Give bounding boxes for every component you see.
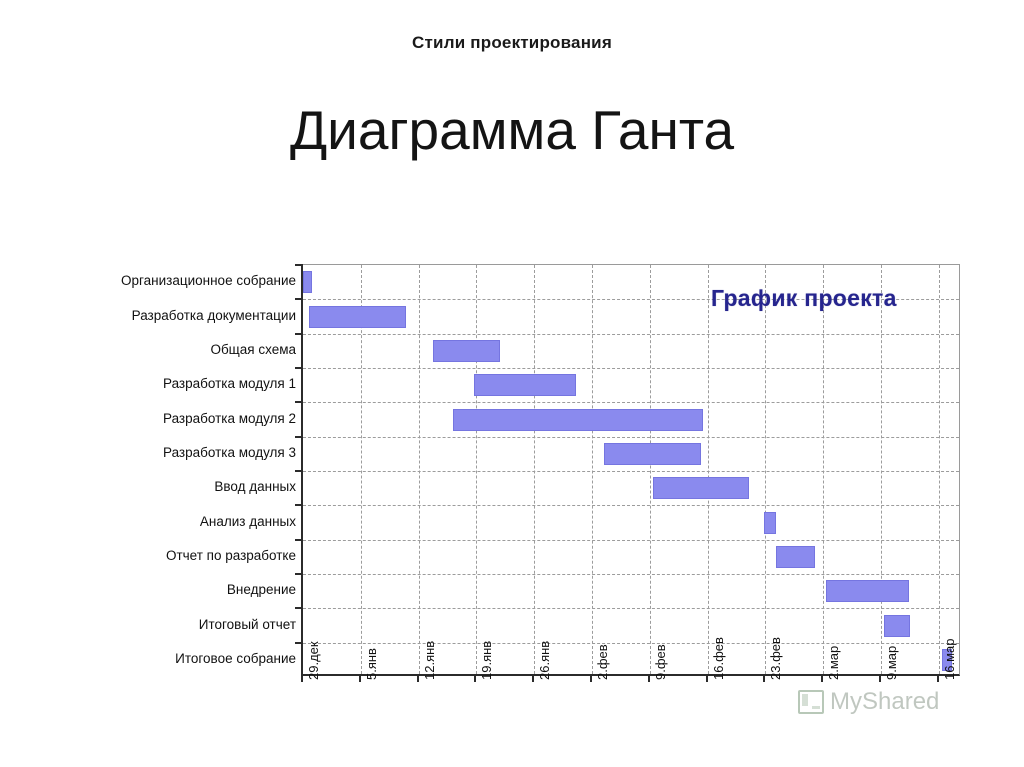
chart-annotation: График проекта: [711, 285, 897, 312]
x-axis-tick: [417, 676, 419, 682]
y-axis-tick: [295, 436, 303, 438]
gantt-bar: [884, 615, 910, 637]
y-gridline: [303, 437, 959, 438]
x-axis-tick: [879, 676, 881, 682]
y-axis-tick: [295, 264, 303, 266]
gantt-bar: [604, 443, 701, 465]
y-axis-tick: [295, 642, 303, 644]
x-axis-tick: [706, 676, 708, 682]
y-axis-tick: [295, 539, 303, 541]
x-axis-label: 12.янв: [422, 641, 437, 680]
y-gridline: [303, 608, 959, 609]
x-axis-label: 2.фев: [595, 644, 610, 680]
x-axis-label: 9.мар: [884, 646, 899, 680]
x-axis-label: 23.фев: [768, 637, 783, 680]
y-gridline: [303, 540, 959, 541]
x-gridline: [534, 265, 535, 674]
presentation-icon: [798, 690, 824, 714]
y-axis-tick: [295, 401, 303, 403]
x-axis-label: 5.янв: [364, 648, 379, 680]
y-axis-tick: [295, 607, 303, 609]
x-axis-tick: [474, 676, 476, 682]
y-gridline: [303, 471, 959, 472]
x-axis-label: 2.мар: [826, 646, 841, 680]
task-label: Разработка документации: [66, 309, 296, 323]
x-axis-tick: [532, 676, 534, 682]
gantt-bar: [303, 271, 312, 293]
y-axis-tick: [295, 573, 303, 575]
task-label: Внедрение: [66, 583, 296, 597]
y-gridline: [303, 334, 959, 335]
task-label: Разработка модуля 1: [66, 377, 296, 391]
x-axis-label: 26.янв: [537, 641, 552, 680]
watermark: MyShared: [798, 688, 939, 716]
y-gridline: [303, 574, 959, 575]
x-axis-tick: [763, 676, 765, 682]
x-gridline: [881, 265, 882, 674]
task-label: Разработка модуля 2: [66, 412, 296, 426]
x-axis-tick: [821, 676, 823, 682]
x-axis-label: 16.фев: [711, 637, 726, 680]
x-gridline: [708, 265, 709, 674]
gantt-bar: [433, 340, 499, 362]
y-axis-tick: [295, 504, 303, 506]
x-axis-tick: [359, 676, 361, 682]
task-label: Ввод данных: [66, 480, 296, 494]
x-axis-label: 19.янв: [479, 641, 494, 680]
y-axis-tick: [295, 333, 303, 335]
x-gridline: [476, 265, 477, 674]
y-axis-tick: [295, 367, 303, 369]
task-label: Общая схема: [66, 343, 296, 357]
y-gridline: [303, 505, 959, 506]
x-gridline: [765, 265, 766, 674]
task-label: Организационное собрание: [66, 274, 296, 288]
gantt-bar: [474, 374, 577, 396]
gantt-plot-area: [301, 264, 960, 676]
x-gridline: [592, 265, 593, 674]
task-label: Итоговый отчет: [66, 618, 296, 632]
y-gridline: [303, 643, 959, 644]
y-axis-tick: [295, 298, 303, 300]
x-axis-tick: [301, 676, 303, 682]
gantt-bar: [453, 409, 703, 431]
x-axis-label: 9.фев: [653, 644, 668, 680]
task-label-column: Организационное собраниеРазработка докум…: [64, 264, 296, 676]
gantt-bar: [653, 477, 750, 499]
x-axis-tick: [590, 676, 592, 682]
gantt-chart: Организационное собраниеРазработка докум…: [0, 0, 1024, 767]
x-gridline: [419, 265, 420, 674]
watermark-text: MyShared: [830, 688, 939, 716]
x-axis-label: 16.мар: [942, 639, 957, 680]
task-label: Итоговое собрание: [66, 652, 296, 666]
gantt-bar: [826, 580, 909, 602]
gantt-bar: [764, 512, 776, 534]
gantt-bar: [309, 306, 406, 328]
y-gridline: [303, 402, 959, 403]
x-gridline: [939, 265, 940, 674]
x-axis-tick: [648, 676, 650, 682]
x-gridline: [823, 265, 824, 674]
y-axis-tick: [295, 470, 303, 472]
task-label: Отчет по разработке: [66, 549, 296, 563]
gantt-bar: [776, 546, 815, 568]
x-axis-tick: [937, 676, 939, 682]
y-gridline: [303, 368, 959, 369]
x-axis-label: 29.дек: [306, 641, 321, 680]
task-label: Анализ данных: [66, 515, 296, 529]
task-label: Разработка модуля 3: [66, 446, 296, 460]
x-gridline: [650, 265, 651, 674]
